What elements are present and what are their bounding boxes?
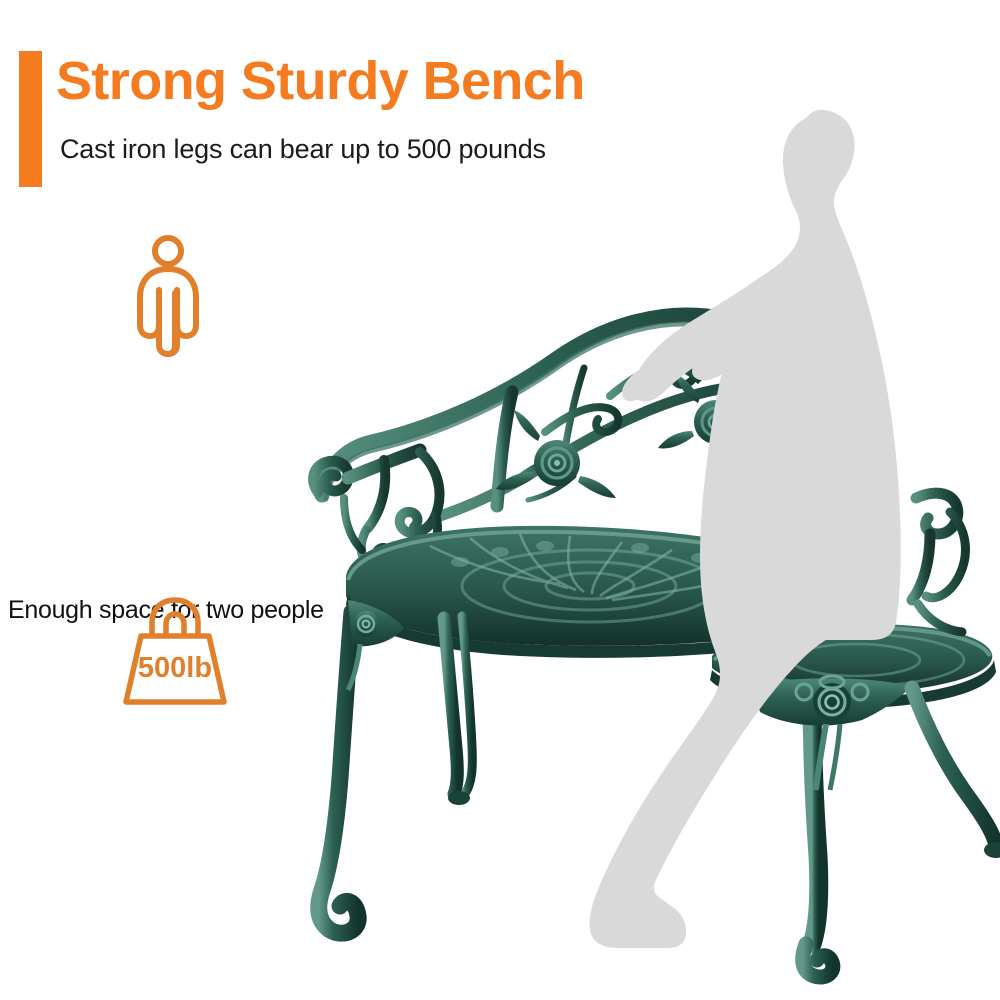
feature-space-icon-wrap — [0, 233, 360, 358]
seated-person-silhouette — [590, 110, 901, 948]
weight-icon-label: 500lb — [138, 652, 212, 684]
bench-backrest — [322, 315, 832, 516]
bench-back-right-ornament — [912, 493, 965, 632]
bench-leg-rear-middle — [444, 616, 472, 805]
bench-leg-front-right — [752, 676, 912, 977]
bench-seat-right — [710, 624, 996, 708]
page-title: Strong Sturdy Bench — [56, 54, 816, 108]
weight-bag-icon: 500lb — [0, 595, 360, 720]
page-subtitle: Cast iron legs can bear up to 500 pounds — [60, 134, 820, 165]
bench-seat — [346, 526, 875, 658]
bench-leg-rear-right — [912, 688, 1000, 858]
person-icon — [0, 233, 360, 358]
feature-weight: 500lb Max. Weight Capacity: 500lb — [0, 595, 360, 720]
accent-bar — [19, 51, 42, 187]
feature-weight-icon-wrap: 500lb — [0, 595, 360, 720]
bench-armrest-left — [314, 450, 440, 568]
product-infographic: Strong Sturdy Bench Cast iron legs can b… — [0, 0, 1000, 1000]
rose-ornament-left — [496, 410, 616, 498]
feature-space: Enough space for two people — [0, 233, 360, 358]
rose-ornament-right — [658, 364, 771, 452]
